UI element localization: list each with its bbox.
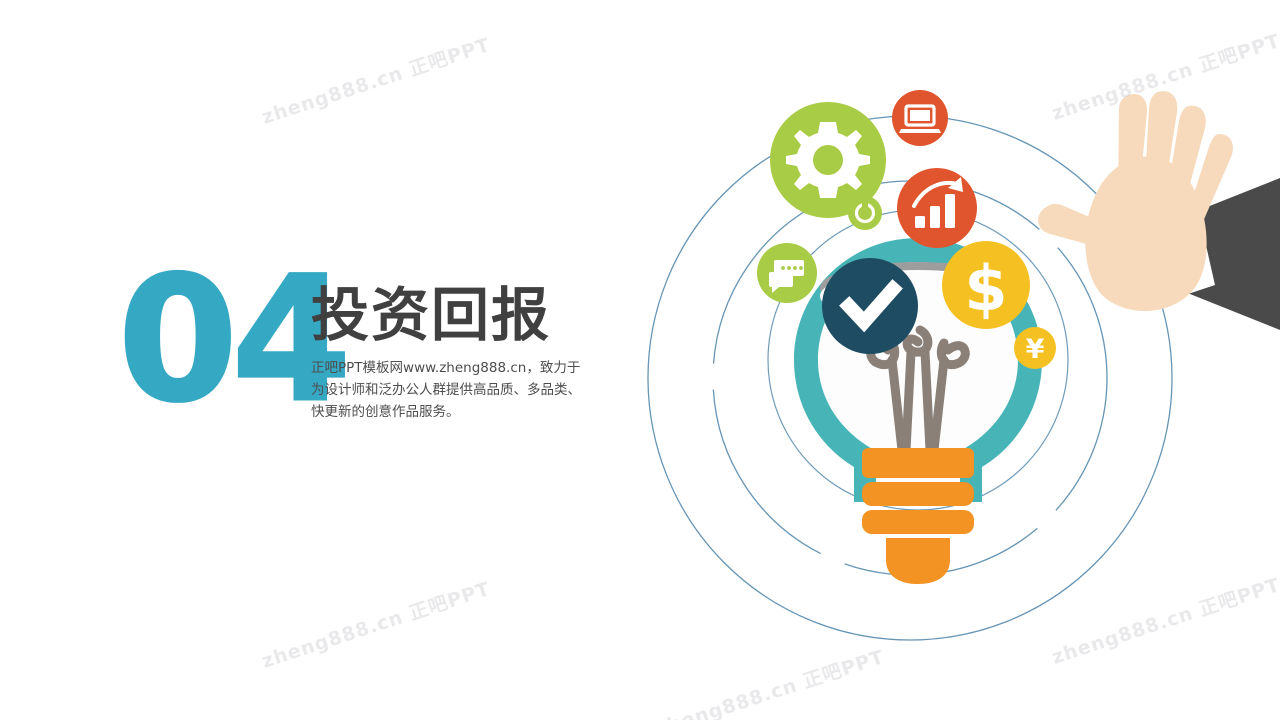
dollar-coin-icon-glyph: $ xyxy=(964,252,1007,325)
growth-chart-icon xyxy=(897,168,977,248)
laptop-icon-screen xyxy=(910,110,930,121)
title-group: 投资回报 正吧PPT模板网www.zheng888.cn，致力于为设计师和泛办公… xyxy=(311,285,601,423)
laptop-icon-base xyxy=(899,129,941,133)
bulb-base-collar xyxy=(862,448,974,478)
chat-icon xyxy=(757,243,817,303)
target-icon xyxy=(848,196,882,230)
slide-canvas: $ ¥ 04 投资回报 正吧PPT模板网www.zheng888.cn，致力于为… xyxy=(0,0,1280,720)
hand-icon xyxy=(1038,91,1280,330)
target-icon-notch xyxy=(862,201,868,207)
bulb-base-ring-2 xyxy=(862,510,974,534)
yen-coin-icon: ¥ xyxy=(1014,327,1056,369)
dollar-coin-icon: $ xyxy=(942,241,1030,329)
left-text-block: 04 投资回报 正吧PPT模板网www.zheng888.cn，致力于为设计师和… xyxy=(0,0,620,720)
bulb-base-tip xyxy=(886,538,950,584)
laptop-icon xyxy=(892,90,948,146)
illustration-container: $ ¥ xyxy=(630,30,1280,690)
bulb-base-ring-1 xyxy=(862,482,974,506)
check-icon xyxy=(822,258,918,354)
gear-icon-hole xyxy=(813,145,843,175)
page-title: 投资回报 xyxy=(311,285,601,346)
body-paragraph: 正吧PPT模板网www.zheng888.cn，致力于为设计师和泛办公人群提供高… xyxy=(311,358,583,424)
yen-coin-icon-glyph: ¥ xyxy=(1026,334,1045,365)
